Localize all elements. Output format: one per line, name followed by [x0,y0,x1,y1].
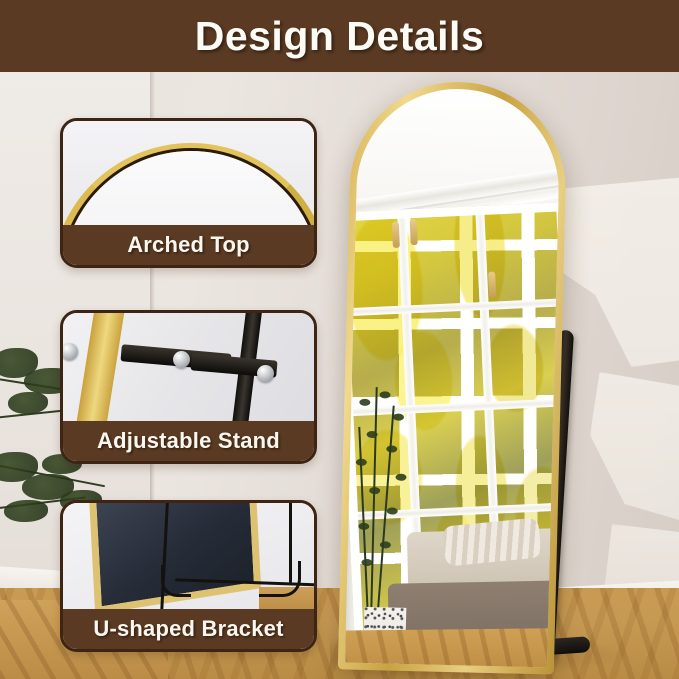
product-detail-image: Design Details Arched Top Adjustable Sta… [0,0,679,679]
reflected-window-handle-2 [410,219,418,245]
feature-label-text-u-shaped-bracket: U-shaped Bracket [93,616,283,642]
stand-photo-knob-3 [63,343,78,360]
header-banner: Design Details [0,0,679,72]
bracket-photo-wire-curve-right [259,561,301,597]
feature-label-text-adjustable-stand: Adjustable Stand [97,428,280,454]
feature-label-text-arched-top: Arched Top [127,232,250,258]
arched-floor-mirror [338,79,568,674]
feature-card-u-shaped-bracket[interactable]: U-shaped Bracket [60,500,317,652]
feature-label-bar-arched-top: Arched Top [63,225,314,265]
arched-frame-glass [63,151,314,225]
reflected-window-handle-3 [488,271,496,297]
feature-card-adjustable-stand[interactable]: Adjustable Stand [60,310,317,464]
stand-photo-knob-1 [173,351,190,368]
stand-photo-gold-frame [75,313,125,421]
feature-card-arched-top[interactable]: Arched Top [60,118,317,268]
feature-label-bar-adjustable-stand: Adjustable Stand [63,421,314,461]
feature-photo-arched-top [63,121,314,225]
feature-photo-adjustable-stand [63,313,314,421]
feature-photo-u-shaped-bracket [63,503,314,609]
reflected-floor [345,628,561,667]
mirror-glass-reflection [345,87,561,668]
feature-label-bar-u-shaped-bracket: U-shaped Bracket [63,609,314,649]
stand-photo-knob-2 [257,365,274,382]
reflected-window-handle-1 [392,222,400,248]
page-title: Design Details [195,13,485,60]
